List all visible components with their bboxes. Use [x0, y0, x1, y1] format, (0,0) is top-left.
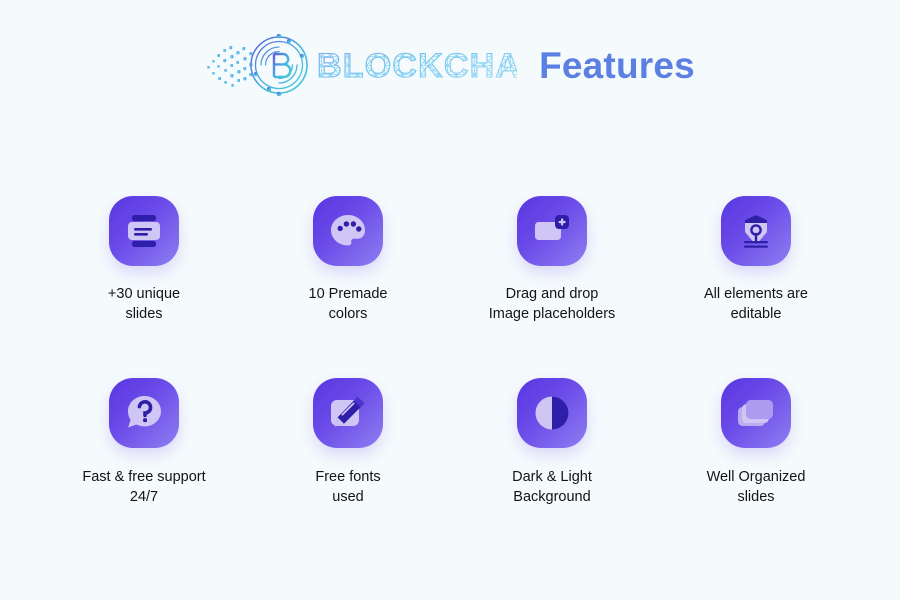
feature-caption-line2: colors — [329, 306, 368, 322]
feature-caption: +30 uniqueslides — [108, 285, 180, 324]
feature-caption-line2: Image placeholders — [489, 306, 616, 322]
question-speech-bubble-icon — [122, 391, 166, 435]
feature-icon-tile[interactable] — [517, 196, 587, 266]
page-title: Features — [539, 47, 695, 84]
feature-caption-line2: slides — [737, 489, 774, 505]
contrast-half-circle-icon — [530, 391, 574, 435]
feature-item: All elements areeditable — [654, 196, 858, 378]
feature-caption-line1: Dark & Light — [512, 469, 592, 485]
svg-text:BLOCKCHAIN: BLOCKCHAIN — [317, 47, 517, 85]
feature-caption-line1: Well Organized — [707, 469, 806, 485]
feature-caption: Free fontsused — [315, 468, 380, 507]
feature-caption-line2: 24/7 — [130, 489, 158, 505]
feature-item: Drag and dropImage placeholders — [450, 196, 654, 378]
feature-caption: 10 Premadecolors — [309, 285, 388, 324]
blockchain-coin-icon — [205, 34, 313, 96]
feature-icon-tile[interactable] — [721, 378, 791, 448]
feature-caption-line1: Drag and drop — [506, 286, 599, 302]
feature-item: Free fontsused — [246, 378, 450, 560]
feature-caption-line2: editable — [731, 306, 782, 322]
feature-item: +30 uniqueslides — [42, 196, 246, 378]
pencil-edit-icon — [326, 391, 370, 435]
feature-caption-line1: +30 unique — [108, 286, 180, 302]
feature-caption: Drag and dropImage placeholders — [489, 285, 616, 324]
feature-caption-line2: used — [332, 489, 363, 505]
feature-caption-line1: Fast & free support — [82, 469, 205, 485]
blockchain-wordmark-icon: BLOCKCHAIN BLOCKCHAIN — [317, 43, 517, 87]
feature-caption-line2: slides — [125, 306, 162, 322]
feature-item: Dark & LightBackground — [450, 378, 654, 560]
feature-item: 10 Premadecolors — [246, 196, 450, 378]
feature-icon-tile[interactable] — [313, 196, 383, 266]
color-palette-icon — [326, 209, 370, 253]
slide-canvas: BLOCKCHAIN BLOCKCHAIN Features + — [0, 0, 900, 600]
feature-caption-line1: 10 Premade — [309, 286, 388, 302]
feature-caption: Well Organizedslides — [707, 468, 806, 507]
features-grid: +30 uniqueslides 10 Premadecolors — [42, 196, 858, 560]
feature-caption-line1: Free fonts — [315, 469, 380, 485]
slides-stack-icon — [122, 209, 166, 253]
feature-caption-line1: All elements are — [704, 286, 808, 302]
feature-caption: Dark & LightBackground — [512, 468, 592, 507]
feature-caption: All elements areeditable — [704, 285, 808, 324]
feature-item: Well Organizedslides — [654, 378, 858, 560]
feature-caption-line2: Background — [513, 489, 590, 505]
image-placeholder-add-icon — [530, 209, 574, 253]
pen-nib-icon — [734, 209, 778, 253]
feature-icon-tile[interactable] — [721, 196, 791, 266]
layered-slides-icon — [734, 391, 778, 435]
feature-icon-tile[interactable] — [109, 378, 179, 448]
feature-icon-tile[interactable] — [313, 378, 383, 448]
feature-icon-tile[interactable] — [517, 378, 587, 448]
feature-caption: Fast & free support24/7 — [82, 468, 205, 507]
slide-header: BLOCKCHAIN BLOCKCHAIN Features — [0, 34, 900, 96]
feature-item: Fast & free support24/7 — [42, 378, 246, 560]
feature-icon-tile[interactable] — [109, 196, 179, 266]
blockchain-logo: BLOCKCHAIN BLOCKCHAIN — [205, 34, 517, 96]
